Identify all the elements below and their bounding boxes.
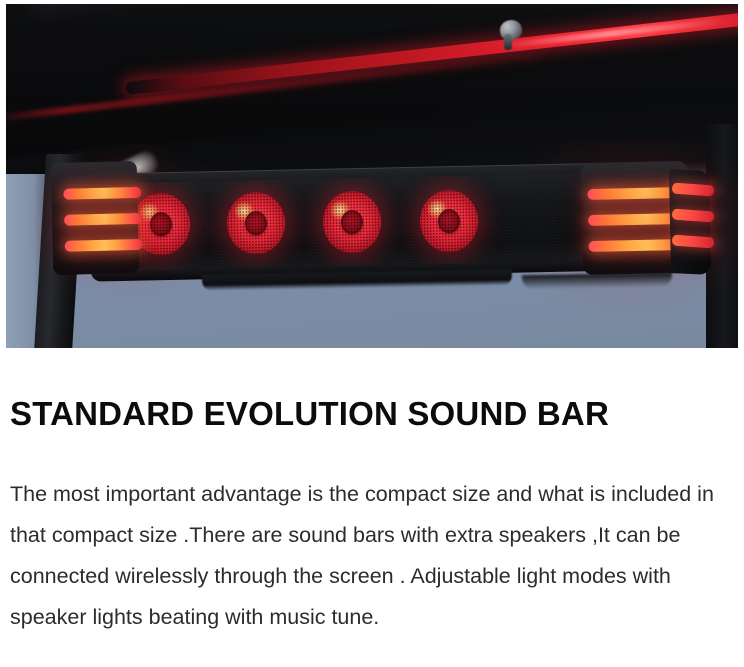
sound-bar-mount-bracket-right: [522, 273, 672, 290]
rgb-led-bar: [63, 187, 141, 200]
speaker-grille: [109, 173, 611, 271]
desk-leg-right: [706, 124, 738, 348]
sound-bar-endcap-left: [51, 161, 140, 275]
product-card: STANDARD EVOLUTION SOUND BAR The most im…: [0, 0, 744, 667]
speaker-cone: [150, 212, 172, 236]
speaker-driver-2: [226, 192, 285, 255]
desk-sheen: [29, 4, 564, 23]
speaker-cone: [438, 209, 460, 233]
rgb-led-bar: [64, 213, 142, 226]
speaker-driver-3: [322, 191, 381, 254]
speaker-cone: [245, 211, 267, 235]
sound-bar-unit: [52, 154, 672, 289]
product-description: The most important advantage is the comp…: [10, 474, 744, 638]
speaker-driver-4: [419, 190, 478, 253]
desk-screw-stem: [504, 34, 512, 50]
product-title: STANDARD EVOLUTION SOUND BAR: [10, 394, 738, 434]
speaker-cone: [341, 210, 363, 234]
product-photo: [6, 4, 738, 348]
rgb-led-bar: [65, 239, 143, 252]
